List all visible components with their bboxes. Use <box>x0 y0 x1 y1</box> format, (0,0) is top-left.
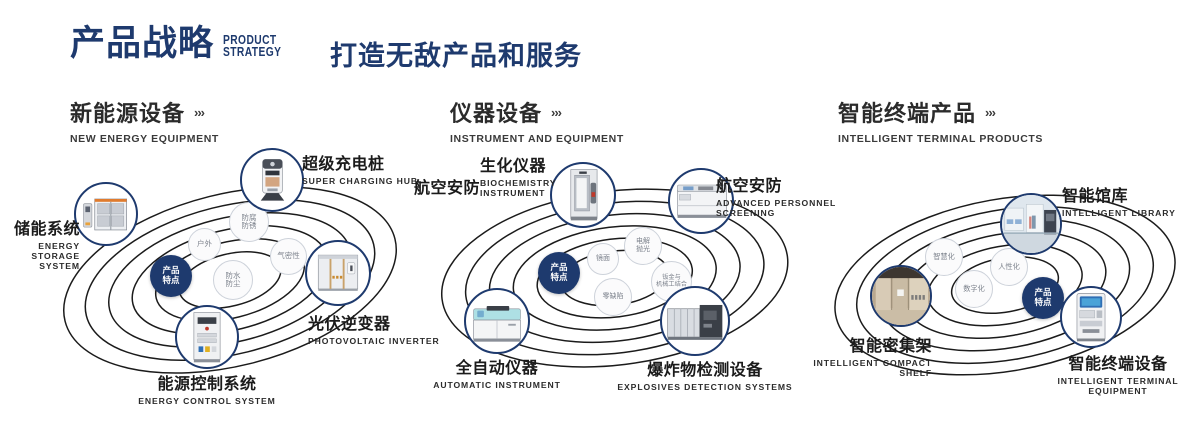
energy-storage-cabinet-icon <box>76 184 136 244</box>
core-bubble-product-features: 产品 特点 <box>150 255 192 297</box>
feature-bubble-text: 气密性 <box>277 252 300 260</box>
product-label-cn: 能源控制系统 <box>87 370 327 394</box>
product-circle-compact-shelf[interactable] <box>870 265 932 327</box>
terminal-kiosk-icon <box>1062 288 1120 346</box>
chevrons-icon: ››› <box>551 105 561 120</box>
product-label-cn: 爆炸物检测设备 <box>600 356 810 380</box>
feature-bubble-line1: 电解 <box>636 238 650 246</box>
section-title-instrument: 仪器设备 ››› INSTRUMENT AND EQUIPMENT <box>450 96 624 145</box>
product-circle-energy-storage[interactable] <box>74 182 138 246</box>
section-title-cn: 仪器设备 <box>450 96 542 128</box>
product-circle-terminal-kiosk[interactable] <box>1060 286 1122 348</box>
header-title-en-line2: STRATEGY <box>223 46 281 58</box>
feature-bubble-text: 户外 <box>197 240 212 248</box>
product-label-automatic-instrument: 全自动仪器 AUTOMATIC INSTRUMENT <box>402 354 592 390</box>
product-label-en: INTELLIGENT TERMINAL EQUIPMENT <box>1028 376 1200 396</box>
product-label-en-line1: ENERGY STORAGE <box>0 241 80 261</box>
feature-bubble-intelligent: 智慧化 <box>925 238 963 276</box>
core-bubble-line2: 特点 <box>550 273 567 283</box>
header-title-en: PRODUCT STRATEGY <box>223 34 281 61</box>
core-bubble-line2: 特点 <box>162 276 179 286</box>
product-label-en: ENERGY STORAGE SYSTEM <box>0 241 80 271</box>
product-label-terminal-kiosk: 智能终端设备 INTELLIGENT TERMINAL EQUIPMENT <box>1028 350 1200 396</box>
product-label-en: EXPLOSIVES DETECTION SYSTEMS <box>600 382 810 392</box>
product-label-compact-shelf: 智能密集架 INTELLIGENT COMPACT SHELF <box>790 332 932 378</box>
cluster-new-energy: 产品 特点 户外 防腐 防锈 防水 防尘 气密性 <box>40 160 420 400</box>
cluster-instrument: 产品 特点 镜面 电解 抛光 零缺陷 钣金与 机械工结合 航空安防 <box>420 160 810 400</box>
product-label-cn: 生化仪器 <box>480 152 600 176</box>
product-label-biochem-instrument: 生化仪器 BIOCHEMISTRY INSTRUMENT <box>480 152 600 198</box>
core-bubble-product-features: 产品 特点 <box>1022 277 1064 319</box>
product-label-cn: 航空安防 <box>398 174 480 198</box>
feature-bubble-text: 镜面 <box>596 255 610 263</box>
feature-bubble-text: 数字化 <box>963 285 985 293</box>
product-label-en: INTELLIGENT COMPACT SHELF <box>790 358 932 378</box>
product-label-control-cabinet: 能源控制系统 ENERGY CONTROL SYSTEM <box>87 370 327 406</box>
feature-bubble-text: 智慧化 <box>933 253 955 261</box>
feature-bubble-text: 零缺陷 <box>603 293 624 301</box>
feature-bubble-mirror: 镜面 <box>587 243 619 275</box>
core-bubble-line2: 特点 <box>1034 298 1051 308</box>
header-title-cn: 产品战略 <box>70 26 214 61</box>
product-label-cn: 储能系统 <box>0 215 80 239</box>
product-label-intelligent-library: 智能馆库 INTELLIGENT LIBRARY <box>1062 182 1200 218</box>
section-title-en: INSTRUMENT AND EQUIPMENT <box>450 133 624 145</box>
product-label-cn: 智能终端设备 <box>1028 350 1200 374</box>
cluster-intelligent-terminal: 智慧化 数字化 人性化 产品 特点 <box>810 160 1200 400</box>
header-tagline: 打造无敌产品和服务 <box>330 34 582 73</box>
product-label-en: ENERGY CONTROL SYSTEM <box>87 396 327 406</box>
product-circle-control-cabinet[interactable] <box>175 305 239 369</box>
feature-bubble-waterproof: 防水 防尘 <box>213 260 253 300</box>
section-title-en: INTELLIGENT TERMINAL PRODUCTS <box>838 133 1043 145</box>
feature-bubble-zero-defect: 零缺陷 <box>594 278 632 316</box>
poster-header: 产品战略 PRODUCT STRATEGY <box>70 26 294 61</box>
product-label-energy-storage: 储能系统 ENERGY STORAGE SYSTEM <box>0 215 80 271</box>
feature-bubble-outdoor: 户外 <box>188 228 221 261</box>
feature-bubble-electropolishing: 电解 抛光 <box>624 227 662 265</box>
pv-inverter-icon <box>307 242 369 304</box>
section-title-new-energy: 新能源设备 ››› NEW ENERGY EQUIPMENT <box>70 96 219 145</box>
section-title-en: NEW ENERGY EQUIPMENT <box>70 133 219 145</box>
product-label-en: INTELLIGENT LIBRARY <box>1062 208 1200 218</box>
product-label-en-line2: SYSTEM <box>0 261 80 271</box>
product-label-en-line2: INSTRUMENT <box>480 188 600 198</box>
product-circle-pv-inverter[interactable] <box>305 240 371 306</box>
product-circle-automatic-instrument[interactable] <box>464 288 530 354</box>
compact-shelf-icon <box>872 267 930 325</box>
feature-bubble-line2: 抛光 <box>636 246 650 254</box>
product-label-en: BIOCHEMISTRY INSTRUMENT <box>480 178 600 198</box>
feature-bubble-line2: 防尘 <box>226 280 241 288</box>
library-room-icon <box>1002 195 1060 253</box>
section-title-intelligent-terminal: 智能终端产品 ››› INTELLIGENT TERMINAL PRODUCTS <box>838 96 1043 145</box>
product-label-en: AUTOMATIC INSTRUMENT <box>402 380 592 390</box>
feature-bubble-digital: 数字化 <box>955 270 993 308</box>
core-bubble-product-features: 产品 特点 <box>538 252 580 294</box>
product-label-en-line1: BIOCHEMISTRY <box>480 178 600 188</box>
product-label-en-line1: INTELLIGENT COMPACT <box>790 358 932 368</box>
automatic-analyzer-icon <box>466 290 528 352</box>
product-circle-intelligent-library[interactable] <box>1000 193 1062 255</box>
feature-bubble-line2: 防锈 <box>242 222 257 230</box>
control-cabinet-icon <box>177 307 237 367</box>
explosives-detector-icon <box>662 288 728 354</box>
product-circle-explosives-detector[interactable] <box>660 286 730 356</box>
product-label-cn: 全自动仪器 <box>402 354 592 378</box>
charging-pile-icon <box>242 150 302 210</box>
product-circle-charging-pile[interactable] <box>240 148 304 212</box>
feature-bubble-airtightness: 气密性 <box>270 238 307 275</box>
poster-canvas: 产品战略 PRODUCT STRATEGY 打造无敌产品和服务 新能源设备 ››… <box>0 0 1200 422</box>
product-label-en-line2: SHELF <box>790 368 932 378</box>
product-label-explosives-detector: 爆炸物检测设备 EXPLOSIVES DETECTION SYSTEMS <box>600 356 810 392</box>
section-title-cn: 智能终端产品 <box>838 96 976 128</box>
product-label-cn: 智能密集架 <box>790 332 932 356</box>
feature-bubble-text: 人性化 <box>998 263 1020 271</box>
product-label-cn: 智能馆库 <box>1062 182 1200 206</box>
chevrons-icon: ››› <box>985 105 995 120</box>
product-label-aviation-security-left: 航空安防 <box>398 174 480 198</box>
section-title-cn: 新能源设备 <box>70 96 185 128</box>
chevrons-icon: ››› <box>194 105 204 120</box>
